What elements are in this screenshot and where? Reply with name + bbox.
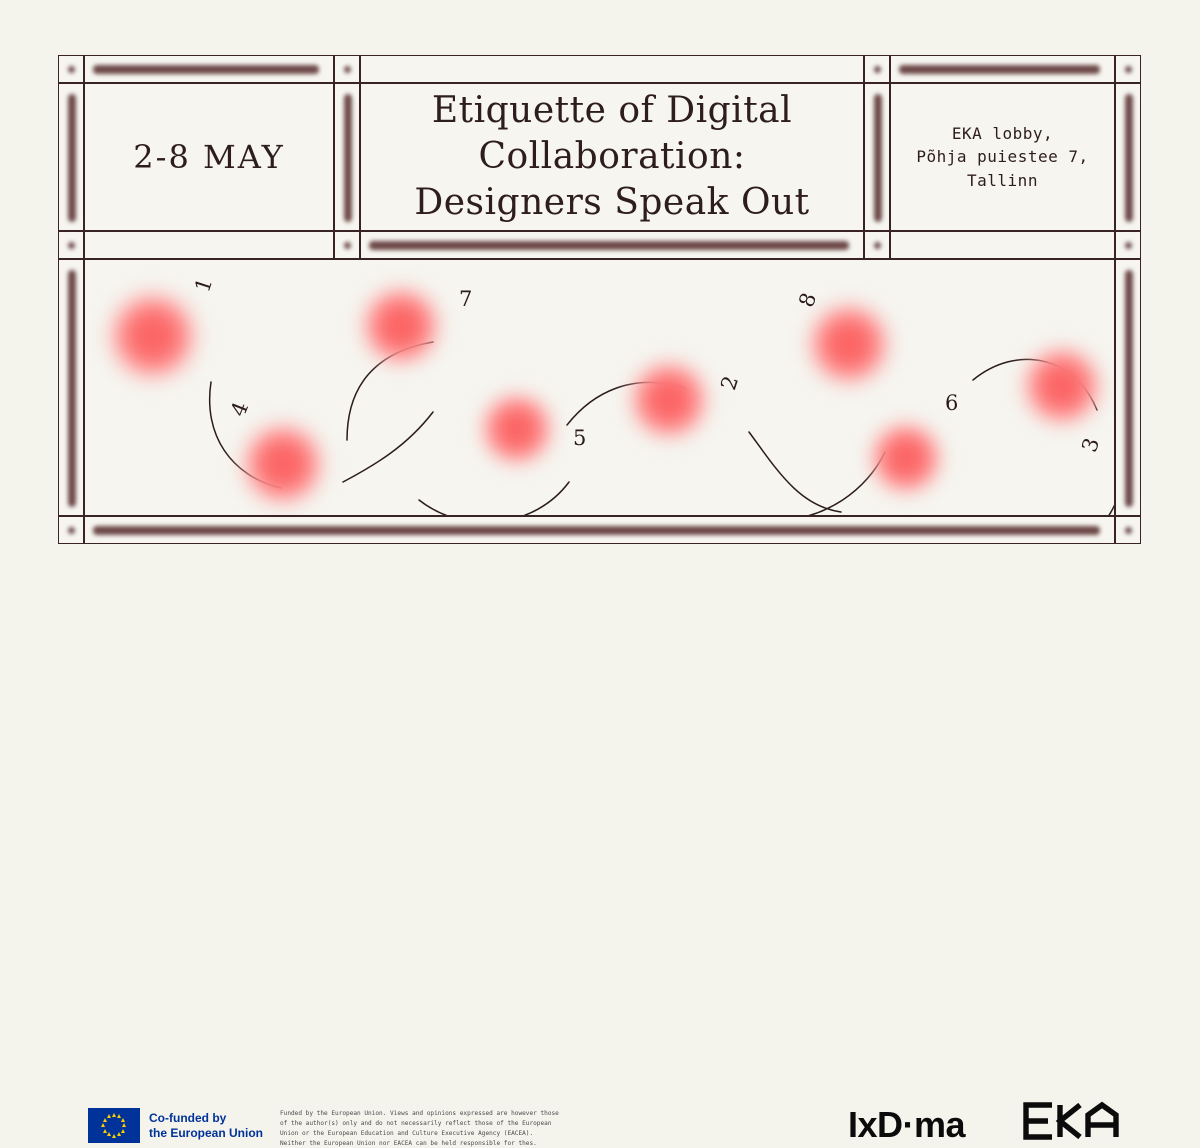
grid-dot [344, 66, 351, 73]
grid-dot [344, 242, 351, 249]
decor-bar-vertical [874, 94, 882, 222]
eka-logo-mark [1022, 1101, 1122, 1141]
arc-9 [1017, 476, 1115, 516]
blob-number-label: 7 [459, 287, 472, 311]
decor-bar-vertical [68, 270, 76, 507]
grid-cell-bar-bottom [84, 516, 1115, 544]
grid-cell-bar-mid-center [360, 231, 864, 259]
grid-dot [68, 527, 75, 534]
venue-cell: EKA lobby, Põhja puiestee 7, Tallinn [890, 83, 1115, 231]
eu-star-icon [122, 1123, 126, 1127]
eu-star-icon [121, 1118, 125, 1122]
illustration-panel: 17452863 [84, 259, 1115, 516]
grid-cell-vbar-right-bottom [1115, 259, 1141, 516]
grid-cell-gutter-tr [1115, 55, 1141, 83]
grid-cell-mid-right [890, 231, 1115, 259]
blob-number-label: 8 [794, 290, 821, 311]
gradient-blob [1012, 336, 1112, 436]
grid-dot [68, 242, 75, 249]
eu-star-icon [107, 1132, 111, 1136]
grid-cell-vbar-right-top [1115, 83, 1141, 231]
grid-cell-top-center [360, 55, 864, 83]
grid-cell-vbar-left-top [58, 83, 84, 231]
blob-number-label: 4 [226, 398, 253, 419]
decor-bar-vertical [1125, 270, 1133, 507]
decor-bar-horizontal [369, 241, 849, 250]
event-title: Etiquette of Digital Collaboration: Desi… [404, 88, 819, 226]
event-venue: EKA lobby, Põhja puiestee 7, Tallinn [916, 122, 1088, 192]
arc-5 [419, 482, 569, 516]
gradient-blob [231, 412, 335, 516]
gradient-blob [351, 276, 451, 376]
blob-number-label: 2 [716, 373, 743, 393]
decor-bar-vertical [1125, 94, 1133, 222]
grid-cell-gutter-mr [1115, 231, 1141, 259]
eu-star-icon [103, 1118, 107, 1122]
arc-2 [343, 412, 433, 482]
grid-cell-gutter-bl [58, 516, 84, 544]
grid-cell-gutter-ml [58, 231, 84, 259]
grid-cell-bar-top-right [890, 55, 1115, 83]
decor-bar-horizontal [93, 526, 1100, 535]
grid-cell-vbar-mid-left [334, 83, 360, 231]
eka-logo [1022, 1101, 1122, 1145]
grid-dot [68, 66, 75, 73]
date-cell: 2-8 MAY [84, 83, 334, 231]
gradient-blob [471, 383, 563, 475]
eu-star-icon [103, 1129, 107, 1133]
event-date: 2-8 MAY [133, 138, 284, 176]
eu-star-icon [117, 1132, 121, 1136]
title-cell: Etiquette of Digital Collaboration: Desi… [360, 83, 864, 231]
grid-cell-bar-top-left [84, 55, 334, 83]
ixd-ma-logo: IxD·ma [848, 1104, 965, 1146]
grid-cell-gutter-tl [58, 55, 84, 83]
footer: Co-funded by the European Union Funded b… [0, 548, 1200, 628]
eu-cofunded-logo: Co-funded by the European Union [88, 1108, 263, 1143]
decor-bar-horizontal [93, 65, 319, 74]
grid-dot [1125, 66, 1132, 73]
arc-6 [749, 432, 841, 512]
grid-dot [1125, 242, 1132, 249]
eu-star-icon [112, 1134, 116, 1138]
blob-number-label: 3 [1077, 435, 1104, 455]
gradient-blob [860, 412, 952, 504]
blob-number-label: 1 [190, 275, 217, 295]
eu-star-icon [112, 1113, 116, 1117]
grid-cell-vbar-mid-right [864, 83, 890, 231]
grid-cell-mid-left [84, 231, 334, 259]
grid-cell-vbar-left-bottom [58, 259, 84, 516]
blob-number-label: 6 [945, 391, 958, 415]
grid-cell-gutter-t3 [864, 55, 890, 83]
decor-bar-horizontal [899, 65, 1100, 74]
eu-disclaimer-text: Funded by the European Union. Views and … [280, 1109, 610, 1148]
decor-bar-vertical [344, 94, 352, 222]
eu-star-icon [121, 1129, 125, 1133]
grid-cell-gutter-m3 [864, 231, 890, 259]
grid-cell-gutter-t2 [334, 55, 360, 83]
gradient-blob [97, 280, 209, 392]
grid-cell-gutter-m2 [334, 231, 360, 259]
poster-grid: 2-8 MAY Etiquette of Digital Collaborati… [58, 55, 1141, 544]
grid-dot [874, 242, 881, 249]
grid-dot [874, 66, 881, 73]
eu-logo-label: Co-funded by the European Union [149, 1111, 263, 1141]
eu-star-icon [107, 1114, 111, 1118]
grid-cell-gutter-br [1115, 516, 1141, 544]
eu-star-icon [101, 1123, 105, 1127]
gradient-blob [619, 350, 719, 450]
decor-bar-vertical [68, 94, 76, 222]
blob-number-label: 5 [573, 426, 586, 450]
eu-flag-icon [88, 1108, 140, 1143]
grid-dot [1125, 527, 1132, 534]
